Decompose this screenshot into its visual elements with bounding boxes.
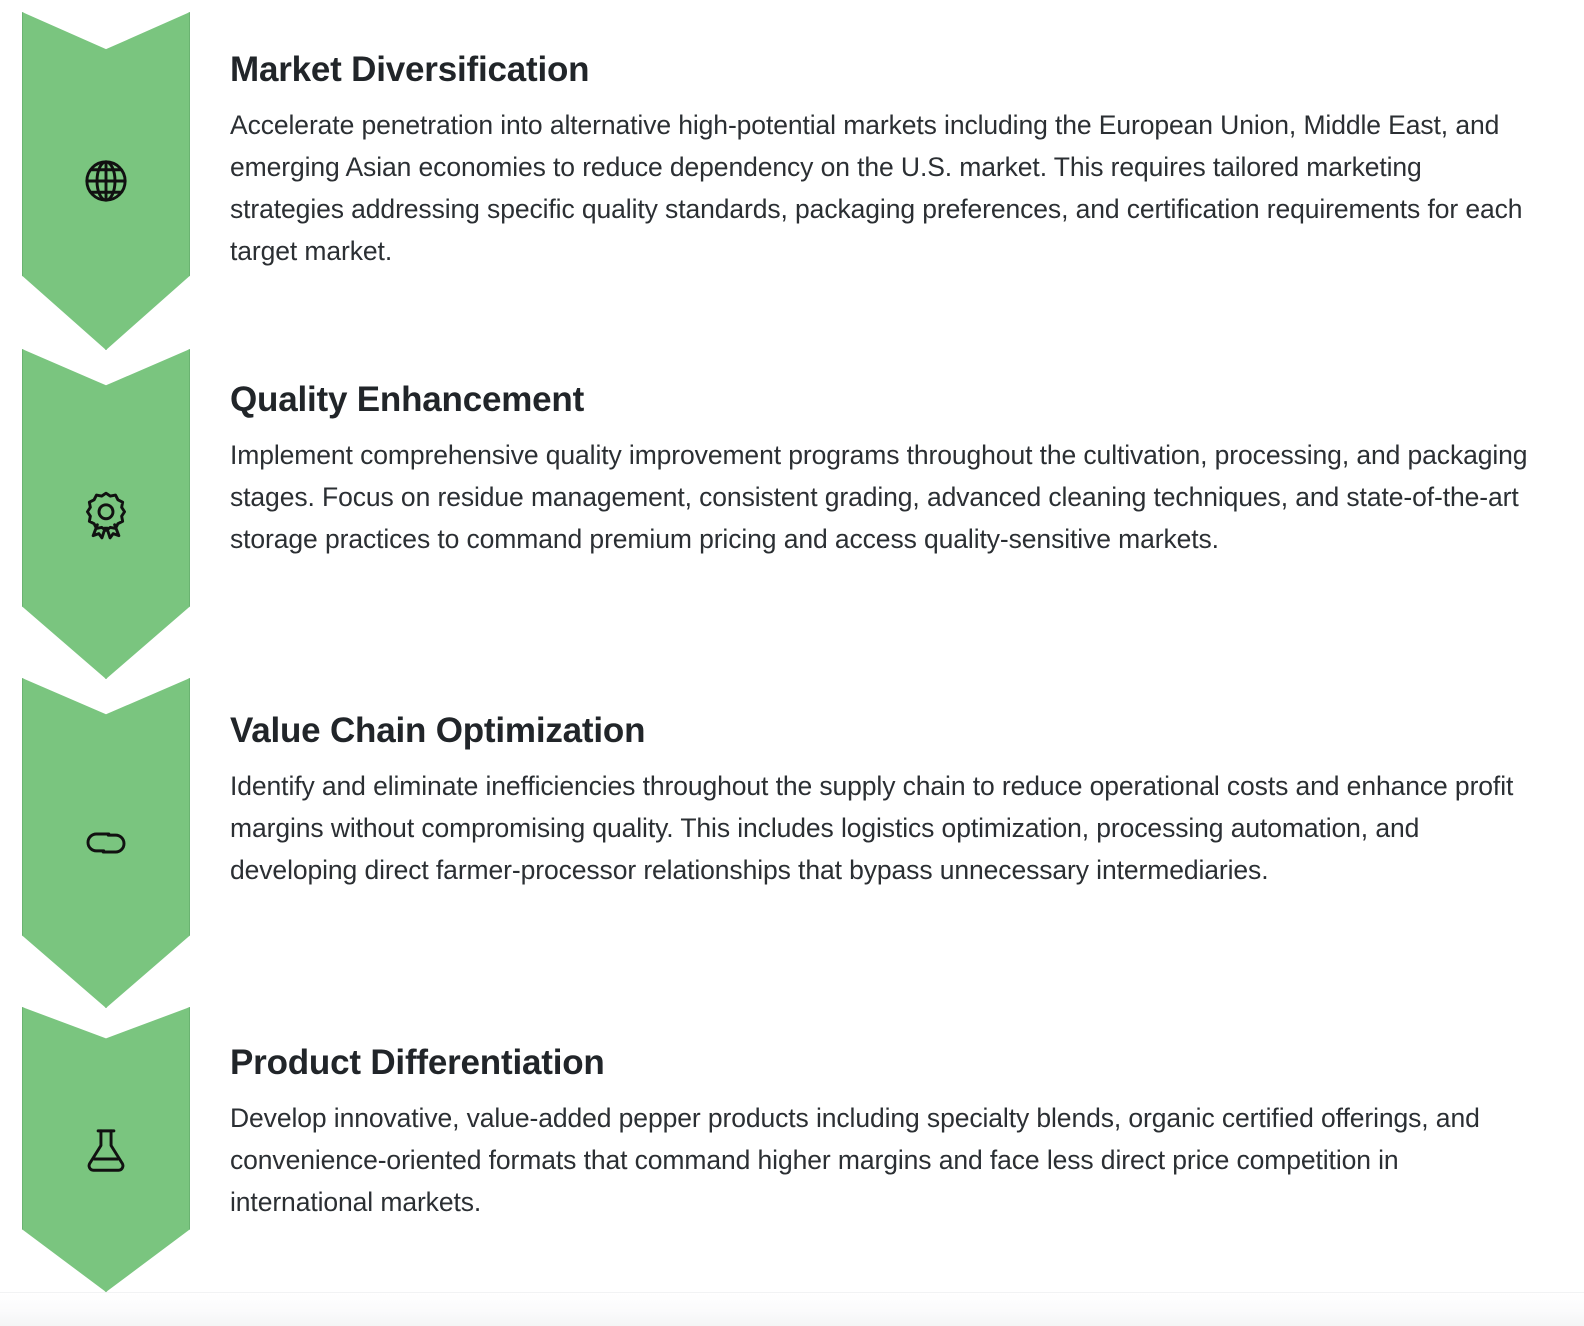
step-body: Identify and eliminate inefficiencies th…	[230, 766, 1530, 892]
flask-icon	[79, 1123, 133, 1177]
bottom-strip	[0, 1292, 1584, 1326]
chevron-step-1[interactable]	[22, 12, 190, 350]
step-block-2: Quality Enhancement Implement comprehens…	[230, 380, 1530, 561]
chevron-step-4[interactable]	[22, 1007, 190, 1292]
step-title: Product Differentiation	[230, 1043, 1530, 1082]
step-block-1: Market Diversification Accelerate penetr…	[230, 50, 1530, 273]
step-block-4: Product Differentiation Develop innovati…	[230, 1043, 1530, 1224]
step-body: Implement comprehensive quality improvem…	[230, 435, 1530, 561]
step-title: Quality Enhancement	[230, 380, 1530, 419]
step-block-3: Value Chain Optimization Identify and el…	[230, 711, 1530, 892]
chevron-rail	[0, 0, 212, 1326]
chain-link-icon	[79, 816, 133, 870]
step-body: Develop innovative, value-added pepper p…	[230, 1098, 1530, 1224]
step-title: Value Chain Optimization	[230, 711, 1530, 750]
step-body: Accelerate penetration into alternative …	[230, 105, 1530, 272]
globe-icon	[79, 154, 133, 208]
strategy-flow-page: Market Diversification Accelerate penetr…	[0, 0, 1584, 1326]
award-ribbon-icon	[79, 487, 133, 541]
step-title: Market Diversification	[230, 50, 1530, 89]
chevron-step-2[interactable]	[22, 349, 190, 679]
chevron-step-3[interactable]	[22, 678, 190, 1008]
